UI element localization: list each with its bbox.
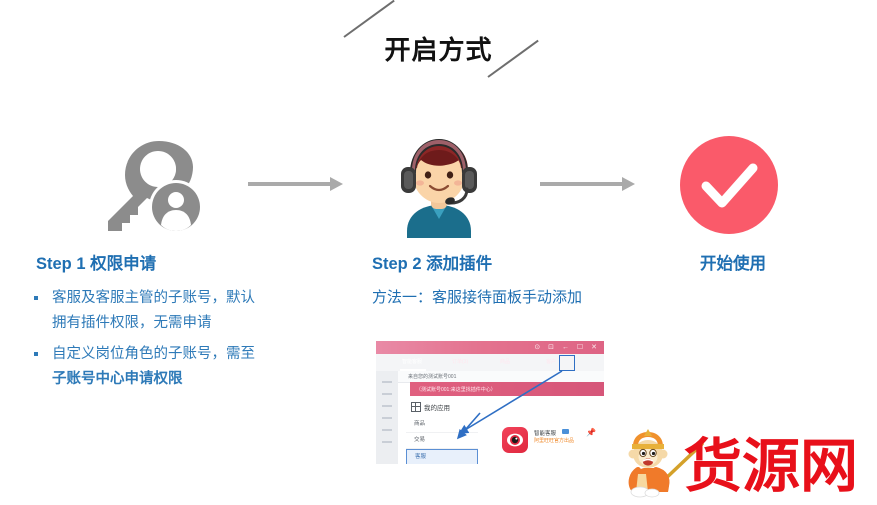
list-item: 客服及客服主管的子账号，默认 拥有插件权限，无需申请: [20, 286, 334, 336]
step-2-icon-area: [370, 120, 620, 250]
page-title: 开启方式: [0, 30, 877, 67]
arrow-head: [330, 177, 343, 191]
step-1-column: Step 1 权限申请 客服及客服主管的子账号，默认 拥有插件权限，无需申请 自…: [20, 120, 320, 398]
embedded-screenshot-thumbnail: ⊙ ⊡ ← ☐ ✕ 智能客服 订单(3) 商品 客户 来自您的测试账号001 （…: [376, 341, 604, 464]
step-1-bullet-list: 客服及客服主管的子账号，默认 拥有插件权限，无需申请 自定义岗位角色的子账号，需…: [20, 286, 320, 392]
step-1-icon-area: [20, 120, 320, 250]
done-column: 开始使用: [660, 120, 840, 286]
watermark-text: 货源网: [684, 432, 858, 500]
customer-service-agent-icon: [393, 133, 485, 238]
bullet-marker-icon: [34, 296, 38, 300]
check-circle-icon: [680, 136, 778, 234]
step-2-heading: Step 2 添加插件: [372, 250, 620, 274]
key-person-icon: [102, 135, 206, 235]
step-2-method-label: 方法一：客服接待面板手动添加: [372, 286, 620, 307]
screenshot-annotation-arrows: [376, 341, 604, 464]
bullet-line-emphasis: 子账号中心申请权限: [52, 371, 183, 387]
step-2-column: Step 2 添加插件 方法一：客服接待面板手动添加: [370, 120, 620, 317]
watermark-logo: 货源网: [624, 424, 877, 500]
done-icon-area: [660, 120, 840, 250]
arrow-head: [622, 177, 635, 191]
step-1-heading: Step 1 权限申请: [36, 250, 320, 274]
slide-title-block: 开启方式: [0, 8, 877, 78]
list-item: 自定义岗位角色的子账号，需至 子账号中心申请权限: [20, 342, 334, 392]
bullet-line: 拥有插件权限，无需申请: [52, 315, 212, 331]
bullet-line: 客服及客服主管的子账号，默认: [52, 290, 255, 306]
done-heading: 开始使用: [700, 250, 840, 274]
bullet-line: 自定义岗位角色的子账号，需至: [52, 346, 255, 362]
bullet-marker-icon: [34, 352, 38, 356]
